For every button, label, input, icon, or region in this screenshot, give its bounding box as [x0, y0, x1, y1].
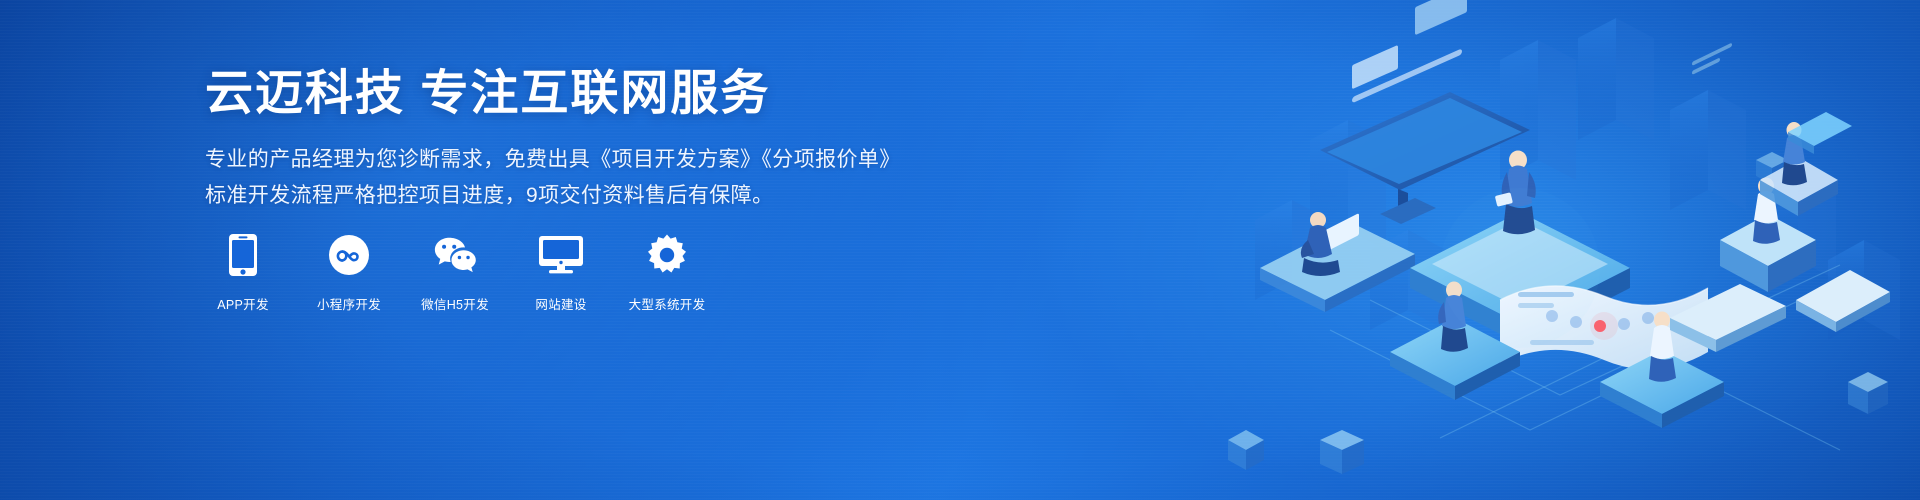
hero-copy: 云迈科技 专注互联网服务 专业的产品经理为您诊断需求，免费出具《项目开发方案》《…: [205, 66, 905, 213]
service-item-app[interactable]: APP开发: [205, 232, 281, 313]
service-item-mini-program[interactable]: 小程序开发: [311, 232, 387, 313]
monitor-icon: [538, 232, 584, 278]
service-label: APP开发: [217, 294, 269, 313]
hero-banner: 云迈科技 专注互联网服务 专业的产品经理为您诊断需求，免费出具《项目开发方案》《…: [0, 0, 1920, 500]
service-label: 大型系统开发: [629, 294, 706, 313]
service-item-wechat-h5[interactable]: 微信H5开发: [417, 232, 493, 313]
wechat-icon: [432, 232, 478, 278]
subtitle-line-2: 标准开发流程严格把控项目进度，9项交付资料售后有保障。: [205, 179, 905, 213]
mobile-phone-icon: [220, 232, 266, 278]
service-list: APP开发 小程序开发: [205, 232, 705, 313]
gear-icon: [644, 232, 690, 278]
service-label: 微信H5开发: [421, 294, 489, 313]
page-title: 云迈科技 专注互联网服务: [205, 66, 905, 123]
mini-program-icon: [326, 232, 372, 278]
service-item-website[interactable]: 网站建设: [523, 232, 599, 313]
glow-accents: [1440, 188, 1618, 348]
service-label: 小程序开发: [317, 294, 381, 313]
service-item-large-system[interactable]: 大型系统开发: [629, 232, 705, 313]
subtitle-line-1: 专业的产品经理为您诊断需求，免费出具《项目开发方案》《分项报价单》: [205, 143, 905, 177]
service-label: 网站建设: [535, 294, 586, 313]
isometric-illustration: [1200, 0, 1920, 500]
